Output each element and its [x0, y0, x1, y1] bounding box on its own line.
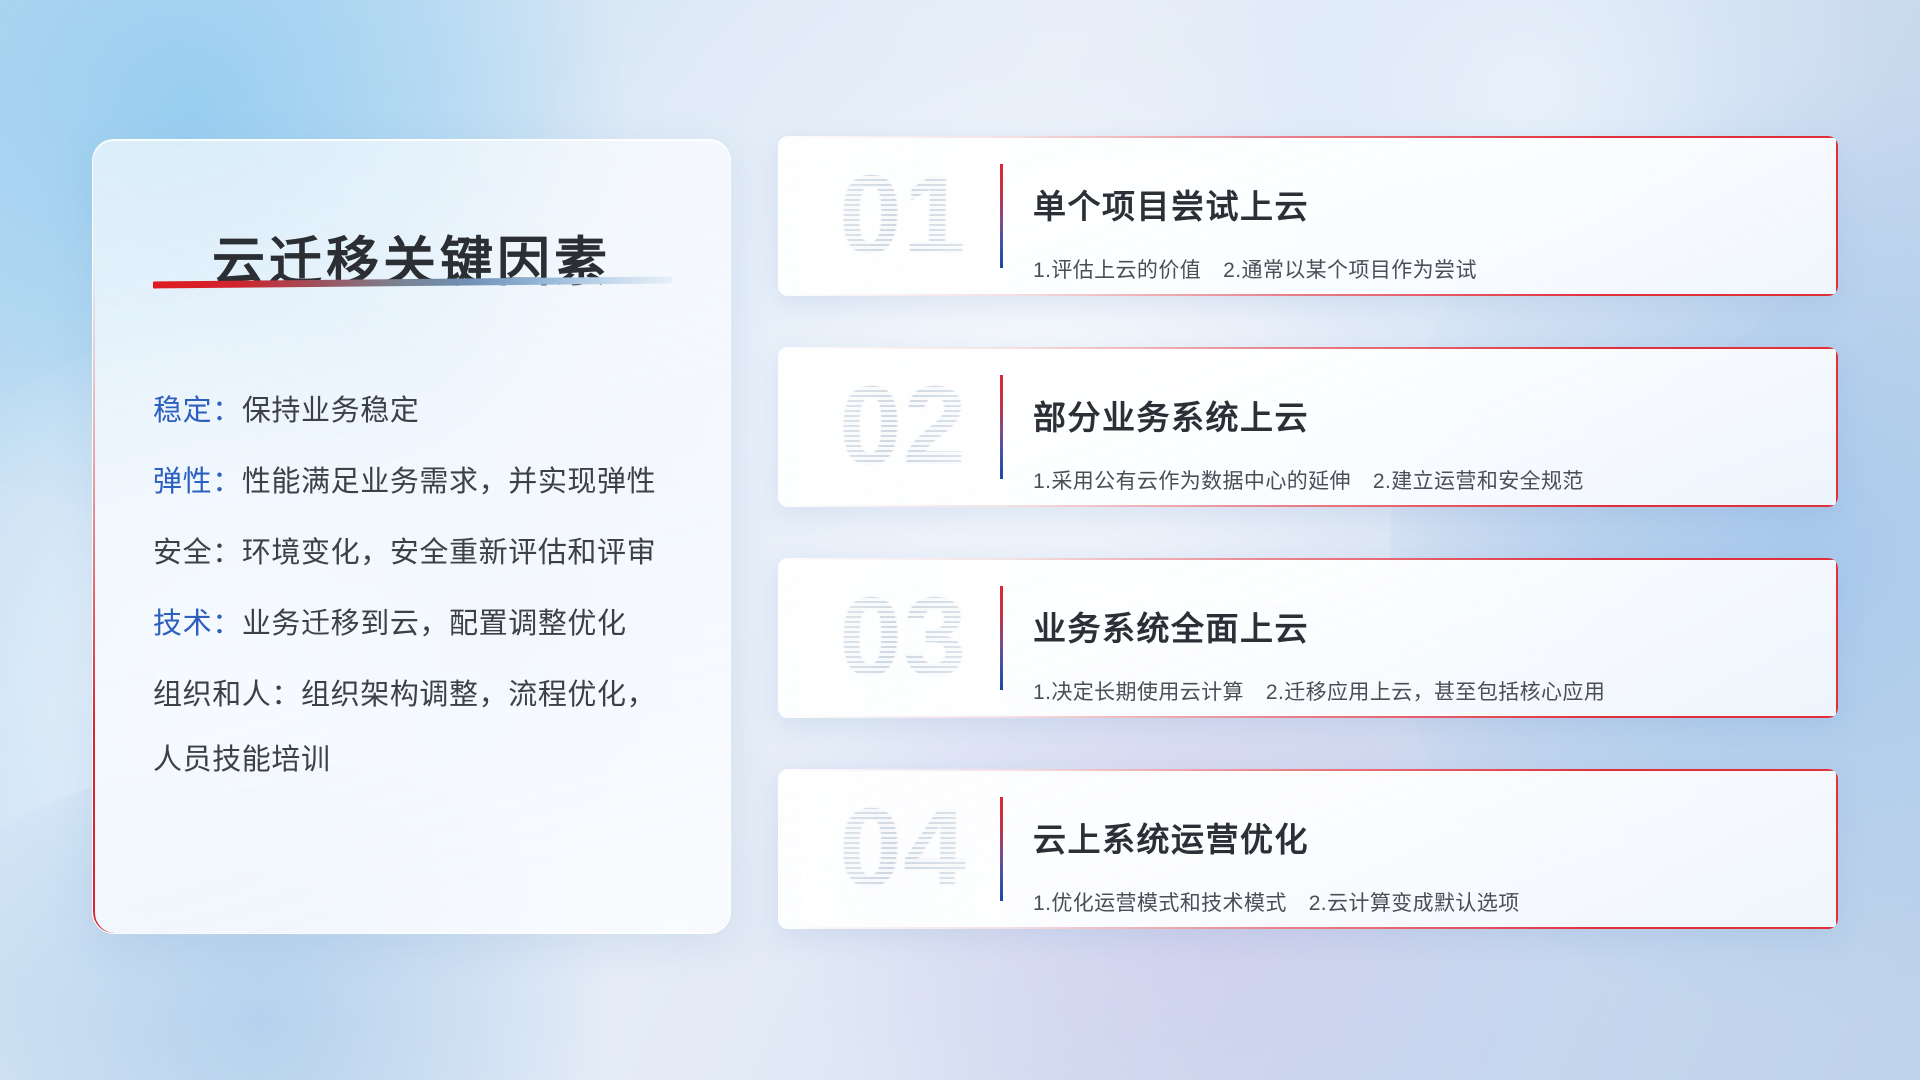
migration-stage-card-02[interactable]: 02 部分业务系统上云 1.采用公有云作为数据中心的延伸2.建立运营和安全规范	[778, 347, 1838, 507]
stage-description-part-2: 2.云计算变成默认选项	[1309, 892, 1520, 915]
stage-number-fade-overlay	[802, 140, 1007, 292]
key-factors-list: 稳定：保持业务稳定 弹性：性能满足业务需求，并实现弹性 安全：环境变化，安全重新…	[153, 364, 696, 778]
key-factor-item-stability: 稳定：保持业务稳定	[153, 393, 696, 429]
key-factor-item-security: 安全：环境变化，安全重新评估和评审	[153, 535, 696, 571]
stage-description-part-2: 2.迁移应用上云，甚至包括核心应用	[1266, 681, 1605, 704]
key-factors-panel: 云迁移关键因素 稳定：保持业务稳定 弹性：性能满足业务需求，并实现弹性 安全：环…	[92, 139, 731, 934]
stage-number-fade-overlay	[802, 773, 1007, 925]
stage-description-part-1: 1.决定长期使用云计算	[1033, 681, 1244, 704]
stage-content: 云上系统运营优化 1.优化运营模式和技术模式2.云计算变成默认选项	[1033, 791, 1806, 929]
key-factor-item-organization-cont: 人员技能培训	[153, 742, 696, 778]
migration-stage-list: 01 单个项目尝试上云 1.评估上云的价值2.通常以某个项目作为尝试 02 部分…	[778, 136, 1838, 929]
stage-divider-bar	[1000, 797, 1003, 901]
stage-description: 1.优化运营模式和技术模式2.云计算变成默认选项	[1033, 890, 1806, 918]
key-factor-text: 保持业务稳定	[242, 395, 420, 427]
stage-content: 业务系统全面上云 1.决定长期使用云计算2.迁移应用上云，甚至包括核心应用	[1033, 580, 1806, 718]
stage-title: 云上系统运营优化	[1033, 818, 1806, 862]
key-factor-item-elasticity: 弹性：性能满足业务需求，并实现弹性	[153, 464, 696, 500]
card-top-rule	[778, 769, 1838, 771]
stage-title: 部分业务系统上云	[1033, 396, 1806, 440]
key-factor-item-technology: 技术：业务迁移到云，配置调整优化	[153, 606, 696, 642]
migration-stage-card-01[interactable]: 01 单个项目尝试上云 1.评估上云的价值2.通常以某个项目作为尝试	[778, 136, 1838, 296]
card-top-rule	[778, 558, 1838, 560]
key-factor-label: 弹性：	[153, 466, 242, 498]
key-factor-label: 组织和人：	[153, 679, 301, 711]
stage-divider-bar	[1000, 375, 1003, 479]
stage-description-part-1: 1.评估上云的价值	[1033, 259, 1201, 282]
stage-divider-bar	[1000, 164, 1003, 268]
stage-divider-bar	[1000, 586, 1003, 690]
migration-stage-card-03[interactable]: 03 业务系统全面上云 1.决定长期使用云计算2.迁移应用上云，甚至包括核心应用	[778, 558, 1838, 718]
card-right-edge	[1836, 347, 1838, 507]
stage-number-watermark: 03	[805, 566, 1002, 708]
card-top-rule	[778, 347, 1838, 349]
key-factor-label: 安全：	[153, 537, 242, 569]
stage-number-watermark: 01	[805, 144, 1002, 286]
card-right-edge	[1836, 769, 1838, 929]
card-right-edge	[1836, 136, 1838, 296]
stage-content: 单个项目尝试上云 1.评估上云的价值2.通常以某个项目作为尝试	[1033, 158, 1806, 296]
stage-title: 单个项目尝试上云	[1033, 185, 1806, 229]
key-factor-text: 业务迁移到云，配置调整优化	[242, 608, 627, 640]
key-factor-text: 性能满足业务需求，并实现弹性	[242, 466, 656, 498]
stage-description-part-2: 2.建立运营和安全规范	[1373, 470, 1584, 493]
stage-title: 业务系统全面上云	[1033, 607, 1806, 651]
card-right-edge	[1836, 558, 1838, 718]
stage-description-part-1: 1.采用公有云作为数据中心的延伸	[1033, 470, 1351, 493]
key-factor-label: 稳定：	[153, 395, 242, 427]
stage-content: 部分业务系统上云 1.采用公有云作为数据中心的延伸2.建立运营和安全规范	[1033, 369, 1806, 507]
stage-number-fade-overlay	[802, 351, 1007, 503]
stage-number-watermark: 02	[805, 355, 1002, 497]
card-top-rule	[778, 136, 1838, 138]
stage-number-watermark: 04	[805, 777, 1002, 919]
stage-description-part-1: 1.优化运营模式和技术模式	[1033, 892, 1287, 915]
slide-canvas: 云迁移关键因素 稳定：保持业务稳定 弹性：性能满足业务需求，并实现弹性 安全：环…	[0, 0, 1920, 1080]
stage-description-part-2: 2.通常以某个项目作为尝试	[1223, 259, 1477, 282]
migration-stage-card-04[interactable]: 04 云上系统运营优化 1.优化运营模式和技术模式2.云计算变成默认选项	[778, 769, 1838, 929]
key-factor-text: 环境变化，安全重新评估和评审	[242, 537, 656, 569]
key-factor-text: 人员技能培训	[153, 744, 331, 776]
key-factor-item-organization: 组织和人：组织架构调整，流程优化，	[153, 677, 696, 713]
key-factor-label: 技术：	[153, 608, 242, 640]
stage-description: 1.评估上云的价值2.通常以某个项目作为尝试	[1033, 257, 1806, 285]
stage-number-fade-overlay	[802, 562, 1007, 714]
stage-description: 1.决定长期使用云计算2.迁移应用上云，甚至包括核心应用	[1033, 679, 1806, 707]
stage-description: 1.采用公有云作为数据中心的延伸2.建立运营和安全规范	[1033, 468, 1806, 496]
key-factor-text: 组织架构调整，流程优化，	[301, 679, 656, 711]
